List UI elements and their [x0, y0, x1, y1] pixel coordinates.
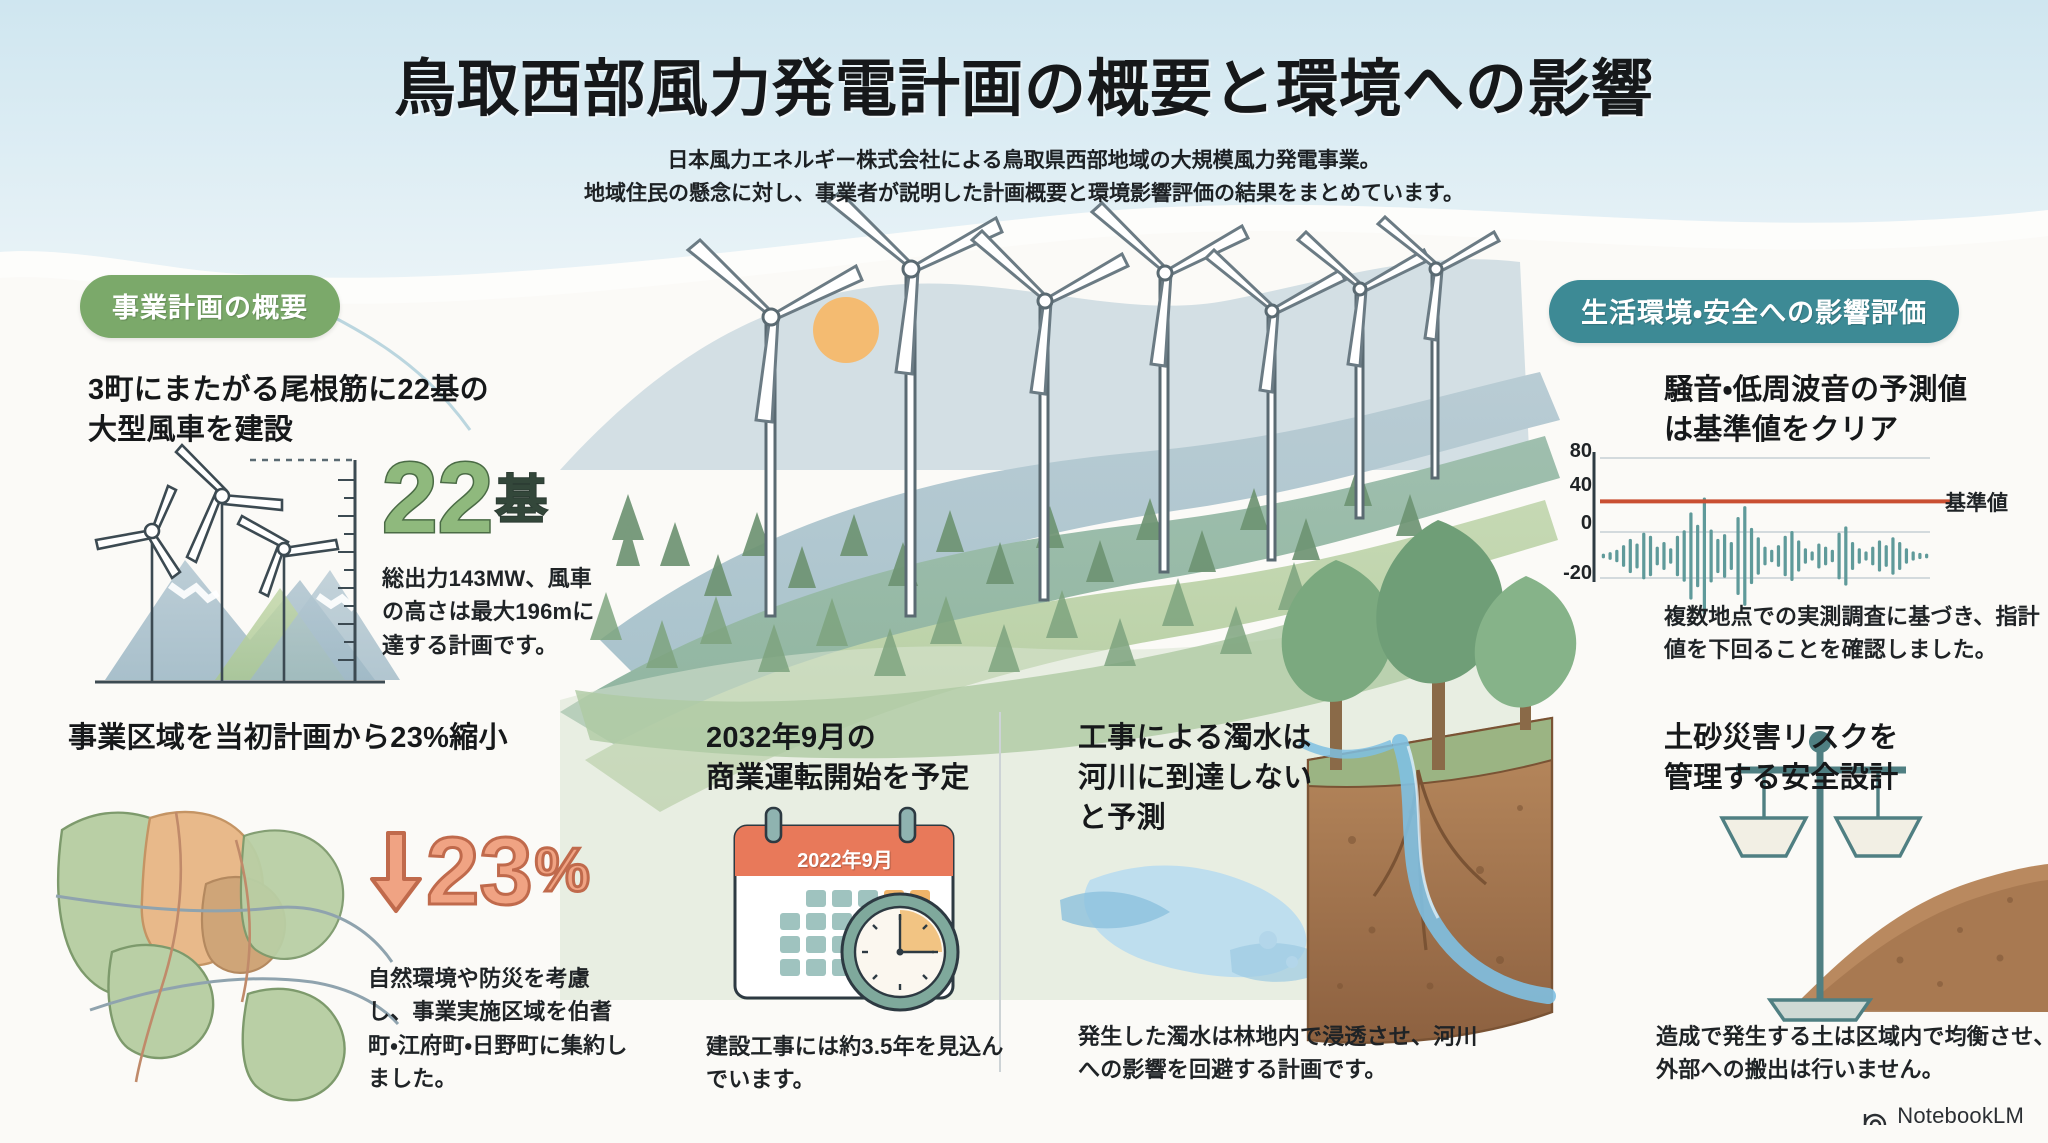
section-badge-plan-overview: 事業計画の概要 [80, 275, 340, 338]
chart-ytick-40: 40 [1542, 474, 1592, 497]
page-title: 鳥取西部風力発電計画の概要と環境への影響 [0, 38, 2048, 128]
landslide-heading: 土砂災害リスクを 管理する安全設計 [1664, 718, 2044, 798]
footer-brand: NotebookLM [1862, 1103, 2024, 1129]
schedule-body: 建設工事には約3.5年を見込んでいます。 [706, 1030, 1006, 1097]
chart-ytick-0: 0 [1542, 512, 1592, 535]
page-subtitle: 日本風力エネルギー株式会社による鳥取県西部地域の大規模風力発電事業。 地域住民の… [0, 145, 2048, 210]
turbines-heading: 3町にまたがる尾根筋に22基の 大型風車を建設 [88, 370, 508, 450]
turbines-stat-unit: 基 [495, 472, 547, 530]
turbid-water-heading-line-3: と予測 [1078, 798, 1398, 838]
chart-ytick-neg20: -20 [1542, 562, 1592, 585]
turbid-water-body: 発生した濁水は林地内で浸透させ、河川への影響を回避する計画です。 [1078, 1020, 1478, 1087]
calendar-month-label: 2022年9月 [790, 844, 900, 873]
chart-ytick-80: 80 [1542, 440, 1592, 463]
turbines-stat: 22基 [382, 452, 547, 544]
landslide-heading-line-1: 土砂災害リスクを [1664, 718, 2044, 758]
section-badge-impact-assessment: 生活環境・安全への影響評価 [1549, 280, 1959, 343]
chart-baseline-label: 基準値 [1945, 487, 2008, 517]
area-reduction-stat-unit: % [535, 842, 590, 901]
area-reduction-body: 自然環境や防災を考慮し、事業実施区域を伯耆町・江府町・日野町に集約しました。 [368, 962, 630, 1096]
noise-chart-labels: 80 40 0 -20 [1600, 452, 1930, 592]
footer-brand-label: NotebookLM [1897, 1103, 2024, 1129]
turbines-heading-line-1: 3町にまたがる尾根筋に22基の [88, 370, 508, 410]
noise-heading-line-2: は基準値をクリア [1664, 410, 2044, 450]
schedule-heading-line-2: 商業運転開始を予定 [706, 758, 1036, 798]
subtitle-line-1: 日本風力エネルギー株式会社による鳥取県西部地域の大規模風力発電事業。 [0, 145, 2048, 178]
area-reduction-heading: 事業区域を当初計画から23%縮小 [68, 718, 588, 758]
turbines-stat-value: 22 [382, 442, 493, 554]
area-reduction-stat: 23% [368, 826, 590, 917]
arrow-down-icon [368, 829, 424, 915]
turbid-water-heading-line-2: 河川に到達しない [1078, 758, 1398, 798]
noise-body: 複数地点での実測調査に基づき、指計値を下回ることを確認しました。 [1664, 600, 2048, 667]
noise-heading-line-1: 騒音・低周波音の予測値 [1664, 370, 2044, 410]
landslide-heading-line-2: 管理する安全設計 [1664, 758, 2044, 798]
landslide-body: 造成で発生する土は区域内で均衡させ、外部への搬出は行いません。 [1656, 1020, 2048, 1087]
schedule-heading: 2032年9月の 商業運転開始を予定 [706, 718, 1036, 798]
notebooklm-logo-icon [1862, 1105, 1888, 1127]
turbines-body: 総出力143MW、風車の高さは最大196mに達する計画です。 [382, 562, 610, 662]
subtitle-line-2: 地域住民の懸念に対し、事業者が説明した計画概要と環境影響評価の結果をまとめていま… [0, 178, 2048, 211]
turbid-water-heading: 工事による濁水は 河川に到達しない と予測 [1078, 718, 1398, 838]
area-reduction-stat-value: 23 [426, 826, 533, 917]
noise-heading: 騒音・低周波音の予測値 は基準値をクリア [1664, 370, 2044, 450]
turbid-water-heading-line-1: 工事による濁水は [1078, 718, 1398, 758]
schedule-heading-line-1: 2032年9月の [706, 718, 1036, 758]
infographic-canvas: 鳥取西部風力発電計画の概要と環境への影響 日本風力エネルギー株式会社による鳥取県… [0, 0, 2048, 1143]
calendar-clock-icon [735, 808, 958, 1010]
